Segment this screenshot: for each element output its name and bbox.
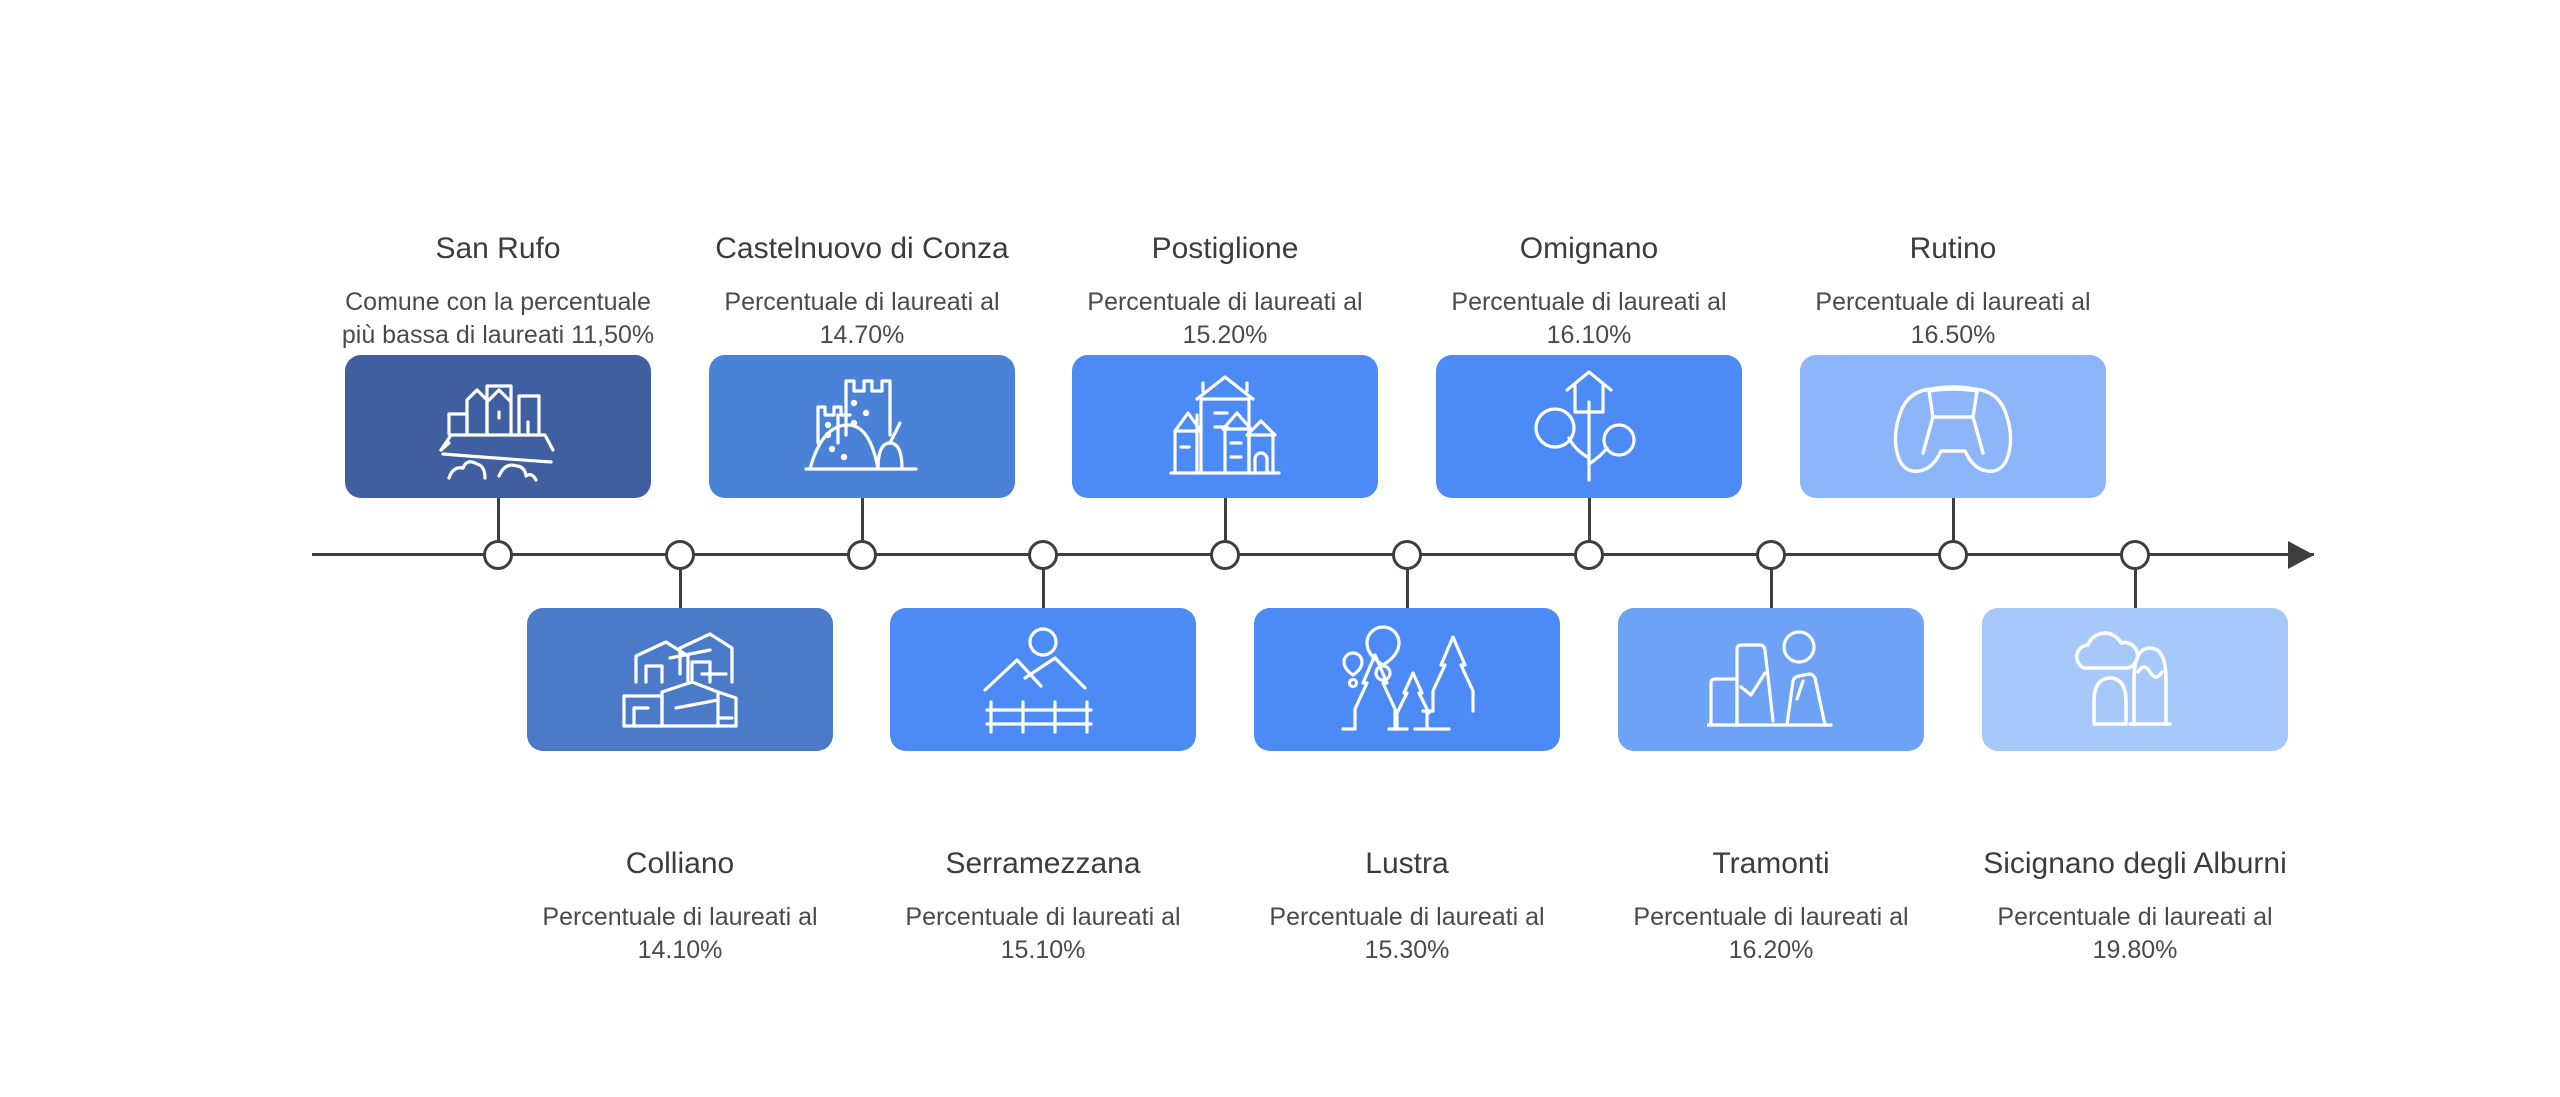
timeline-entry-label: San RufoComune con la percentuale più ba…	[333, 230, 663, 352]
entry-title: Tramonti	[1606, 845, 1936, 883]
entry-description: Percentuale di laureati al 16.10%	[1424, 286, 1754, 352]
timeline-node-marker[interactable]	[2120, 540, 2150, 570]
cloud-mountains-icon	[2068, 624, 2202, 736]
entry-title: Sicignano degli Alburni	[1970, 845, 2300, 883]
timeline-icon-card[interactable]	[1072, 355, 1378, 498]
entry-description: Comune con la percentuale più bassa di l…	[333, 286, 663, 352]
birdhouse-plant-icon	[1529, 368, 1649, 486]
timeline-icon-card[interactable]	[709, 355, 1015, 498]
timeline-icon-card[interactable]	[527, 608, 833, 751]
castle-ruins-icon	[802, 369, 922, 484]
rocks-sun-icon	[1707, 625, 1835, 735]
timeline-entry-label: RutinoPercentuale di laureati al 16.50%	[1788, 230, 2118, 352]
timeline-node-marker[interactable]	[1210, 540, 1240, 570]
timeline-entry-label: LustraPercentuale di laureati al 15.30%	[1242, 845, 1572, 967]
timeline-node-marker[interactable]	[1392, 540, 1422, 570]
timeline-axis-arrow-icon	[2288, 541, 2314, 569]
entry-description: Percentuale di laureati al 15.20%	[1060, 286, 1390, 352]
timeline-infographic: San RufoComune con la percentuale più ba…	[0, 0, 2560, 1097]
entry-title: Rutino	[1788, 230, 2118, 268]
sun-mountains-fence-icon	[979, 624, 1107, 736]
timeline-entry-label: Castelnuovo di ConzaPercentuale di laure…	[697, 230, 1027, 352]
entry-description: Percentuale di laureati al 14.10%	[515, 901, 845, 967]
timeline-icon-card[interactable]	[1436, 355, 1742, 498]
entry-title: Serramezzana	[878, 845, 1208, 883]
timeline-icon-card[interactable]	[345, 355, 651, 498]
timeline-node-marker[interactable]	[1028, 540, 1058, 570]
timeline-entry-label: SerramezzanaPercentuale di laureati al 1…	[878, 845, 1208, 967]
timeline-entry-label: TramontiPercentuale di laureati al 16.20…	[1606, 845, 1936, 967]
entry-title: Lustra	[1242, 845, 1572, 883]
entry-description: Percentuale di laureati al 15.10%	[878, 901, 1208, 967]
game-controller-icon	[1883, 379, 2023, 475]
entry-title: Omignano	[1424, 230, 1754, 268]
timeline-node-marker[interactable]	[483, 540, 513, 570]
timeline-icon-card[interactable]	[1254, 608, 1560, 751]
timeline-icon-card[interactable]	[890, 608, 1196, 751]
entry-title: San Rufo	[333, 230, 663, 268]
entry-title: Postiglione	[1060, 230, 1390, 268]
balloons-trees-icon	[1339, 621, 1475, 739]
entry-title: Castelnuovo di Conza	[697, 230, 1027, 268]
timeline-icon-card[interactable]	[1800, 355, 2106, 498]
timeline-node-marker[interactable]	[1574, 540, 1604, 570]
timeline-node-marker[interactable]	[665, 540, 695, 570]
hilltop-village-icon	[433, 372, 563, 482]
timeline-entry-label: PostiglionePercentuale di laureati al 15…	[1060, 230, 1390, 352]
entry-description: Percentuale di laureati al 19.80%	[1970, 901, 2300, 967]
timeline-icon-card[interactable]	[1982, 608, 2288, 751]
old-town-buildings-icon	[1161, 369, 1289, 484]
entry-title: Colliano	[515, 845, 845, 883]
timeline-icon-card[interactable]	[1618, 608, 1924, 751]
timeline-entry-label: Sicignano degli AlburniPercentuale di la…	[1970, 845, 2300, 967]
timeline-entry-label: CollianoPercentuale di laureati al 14.10…	[515, 845, 845, 967]
entry-description: Percentuale di laureati al 16.50%	[1788, 286, 2118, 352]
entry-description: Percentuale di laureati al 16.20%	[1606, 901, 1936, 967]
timeline-node-marker[interactable]	[1756, 540, 1786, 570]
timeline-entry-label: OmignanoPercentuale di laureati al 16.10…	[1424, 230, 1754, 352]
village-houses-icon	[614, 622, 746, 738]
entry-description: Percentuale di laureati al 15.30%	[1242, 901, 1572, 967]
timeline-node-marker[interactable]	[1938, 540, 1968, 570]
timeline-axis-line	[312, 553, 2314, 556]
timeline-node-marker[interactable]	[847, 540, 877, 570]
entry-description: Percentuale di laureati al 14.70%	[697, 286, 1027, 352]
